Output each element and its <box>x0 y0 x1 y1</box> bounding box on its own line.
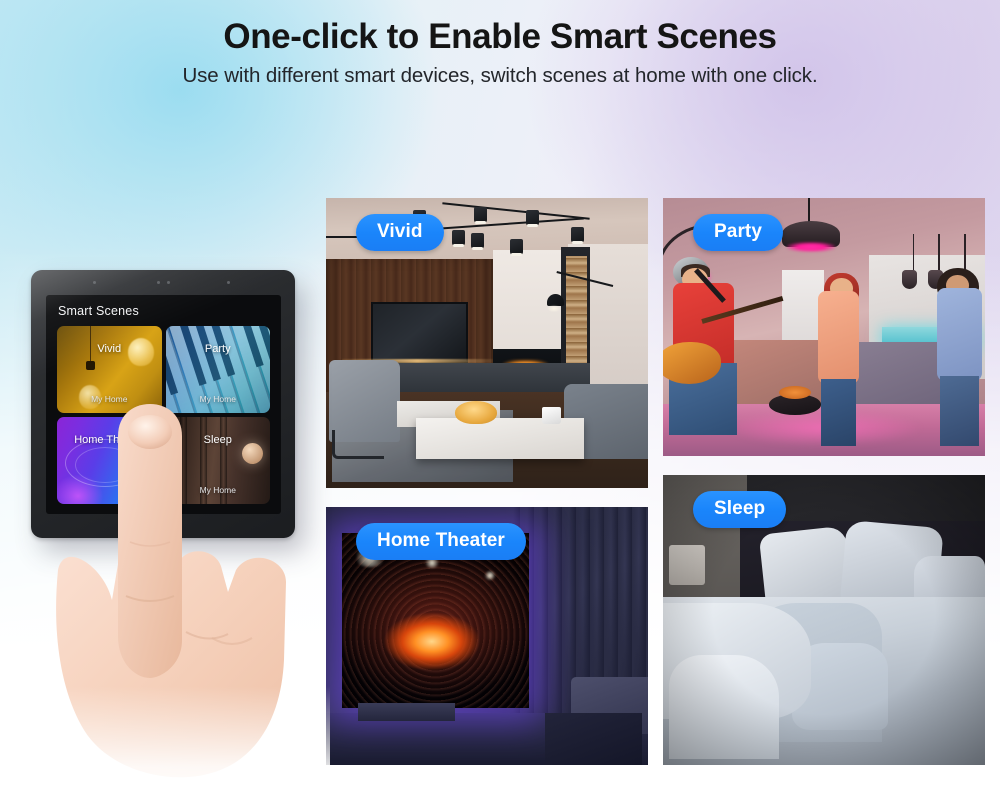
ceiling-lamp-icon <box>471 233 484 249</box>
scene-badge-home-theater: Home Theater <box>356 523 526 560</box>
page-subtitle: Use with different smart devices, switch… <box>0 64 1000 88</box>
scene-tile-sublabel: My Home <box>166 394 271 404</box>
ceiling-lamp-icon <box>452 230 465 246</box>
device-stage: Smart Scenes Vivid My Home <box>0 240 330 807</box>
sensor-dot-icon <box>93 281 96 284</box>
moon-icon <box>242 443 263 464</box>
bulb-socket-icon <box>86 361 95 370</box>
page-title: One-click to Enable Smart Scenes <box>0 16 1000 57</box>
scene-photo-sleep: Sleep <box>663 475 985 765</box>
sensor-dot-icon <box>227 281 230 284</box>
ceiling-lamp-icon <box>571 227 584 243</box>
scene-tile-sleep[interactable]: Sleep My Home <box>166 417 271 504</box>
scene-tile-sublabel: My Home <box>57 394 162 404</box>
scene-tile-label: Vivid <box>57 343 162 355</box>
scene-tile-party[interactable]: Party My Home <box>166 326 271 413</box>
pendant-lamp-icon <box>902 270 917 289</box>
device-top-bezel <box>31 270 295 296</box>
scene-tile-grid: Vivid My Home Party <box>57 326 270 504</box>
electric-guitar-icon <box>663 342 721 383</box>
screen-title: Smart Scenes <box>58 304 139 318</box>
ceiling-lamp-icon <box>474 207 487 223</box>
ceiling-lamp-icon <box>526 210 539 226</box>
scene-tile-sublabel: My Home <box>166 485 271 495</box>
ceiling-lamp-icon <box>510 239 523 255</box>
scene-tile-label: Sleep <box>166 434 271 446</box>
device-screen[interactable]: Smart Scenes Vivid My Home <box>46 295 281 514</box>
scene-tile-label: Home Theater <box>57 434 162 446</box>
scene-photo-vivid: Vivid <box>326 198 648 488</box>
scene-badge-party: Party <box>693 214 783 251</box>
scene-badge-vivid: Vivid <box>356 214 444 251</box>
sensor-dot-icon <box>157 281 160 284</box>
scene-tile-vivid[interactable]: Vivid My Home <box>57 326 162 413</box>
scene-badge-sleep: Sleep <box>693 491 786 528</box>
sound-wave-icon <box>75 447 135 483</box>
scene-photo-home-theater: Home Theater <box>326 507 648 765</box>
smart-panel-device[interactable]: Smart Scenes Vivid My Home <box>31 270 295 538</box>
scene-tile-home-theater[interactable]: Home Theater <box>57 417 162 504</box>
scene-photo-party: Party <box>663 198 985 456</box>
header: One-click to Enable Smart Scenes Use wit… <box>0 16 1000 88</box>
sensor-dot-icon <box>167 281 170 284</box>
scene-tile-label: Party <box>166 343 271 355</box>
